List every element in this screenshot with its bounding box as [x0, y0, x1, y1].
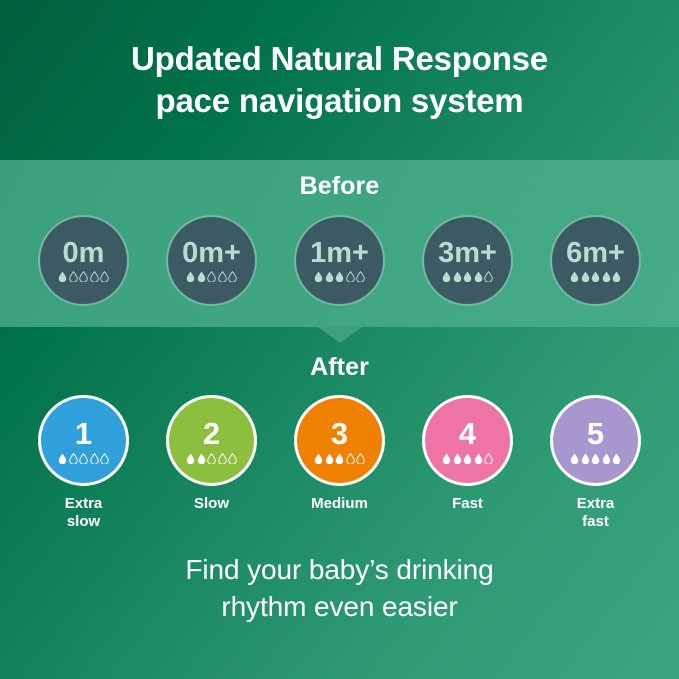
- before-age-badge: 0m+: [166, 215, 257, 306]
- droplet-filled-icon: [58, 453, 67, 464]
- droplet-filled-icon: [463, 271, 472, 282]
- after-pace-badge: 3: [294, 395, 385, 486]
- droplet-meter: [58, 271, 109, 282]
- droplet-meter: [442, 453, 493, 464]
- after-pace-number: 2: [203, 418, 220, 449]
- droplet-filled-icon: [314, 453, 323, 464]
- page-title: Updated Natural Response pace navigation…: [71, 38, 608, 122]
- droplet-filled-icon: [325, 271, 334, 282]
- droplet-filled-icon: [612, 271, 621, 282]
- before-age-label: 3m+: [438, 239, 497, 268]
- droplet-filled-icon: [463, 453, 472, 464]
- before-item: 0m+: [152, 215, 271, 306]
- before-age-badge: 6m+: [550, 215, 641, 306]
- after-item: 4Fast: [408, 395, 527, 513]
- droplet-meter: [186, 453, 237, 464]
- droplet-empty-icon: [228, 453, 237, 464]
- droplet-empty-icon: [207, 453, 216, 464]
- before-row: 0m0m+1m+3m+6m+: [0, 215, 679, 306]
- droplet-empty-icon: [90, 271, 99, 282]
- after-pace-badge: 1: [38, 395, 129, 486]
- droplet-filled-icon: [591, 271, 600, 282]
- droplet-empty-icon: [228, 271, 237, 282]
- droplet-empty-icon: [69, 453, 78, 464]
- header: Updated Natural Response pace navigation…: [0, 0, 679, 160]
- before-age-label: 6m+: [566, 239, 625, 268]
- droplet-filled-icon: [612, 453, 621, 464]
- before-item: 6m+: [536, 215, 655, 306]
- droplet-filled-icon: [325, 453, 334, 464]
- droplet-filled-icon: [442, 453, 451, 464]
- before-age-badge: 1m+: [294, 215, 385, 306]
- after-item: 3Medium: [280, 395, 399, 513]
- after-pace-caption: Medium: [311, 495, 368, 513]
- droplet-filled-icon: [442, 271, 451, 282]
- droplet-empty-icon: [346, 271, 355, 282]
- after-item: 1Extra slow: [24, 395, 143, 531]
- droplet-filled-icon: [335, 453, 344, 464]
- droplet-filled-icon: [591, 453, 600, 464]
- droplet-empty-icon: [69, 271, 78, 282]
- before-age-label: 0m+: [182, 239, 241, 268]
- after-pace-badge: 5: [550, 395, 641, 486]
- after-item: 2Slow: [152, 395, 271, 513]
- droplet-filled-icon: [197, 453, 206, 464]
- footer-text: Find your baby’s drinking rhythm even ea…: [0, 552, 679, 626]
- droplet-filled-icon: [474, 453, 483, 464]
- droplet-meter: [314, 271, 365, 282]
- droplet-filled-icon: [186, 453, 195, 464]
- droplet-filled-icon: [602, 271, 611, 282]
- after-row: 1Extra slow2Slow3Medium4Fast5Extra fast: [0, 395, 679, 531]
- chevron-down-icon: [318, 327, 362, 343]
- droplet-filled-icon: [197, 271, 206, 282]
- droplet-filled-icon: [335, 271, 344, 282]
- droplet-filled-icon: [581, 271, 590, 282]
- poster-root: Updated Natural Response pace navigation…: [0, 0, 679, 679]
- droplet-filled-icon: [453, 271, 462, 282]
- droplet-filled-icon: [186, 271, 195, 282]
- droplet-meter: [570, 271, 621, 282]
- droplet-empty-icon: [79, 453, 88, 464]
- droplet-empty-icon: [79, 271, 88, 282]
- before-age-badge: 3m+: [422, 215, 513, 306]
- after-pace-badge: 2: [166, 395, 257, 486]
- before-item: 0m: [24, 215, 143, 306]
- before-heading: Before: [0, 172, 679, 201]
- droplet-empty-icon: [484, 271, 493, 282]
- after-pace-caption: Fast: [452, 495, 483, 513]
- after-pace-caption: Extra slow: [65, 495, 103, 531]
- droplet-filled-icon: [58, 271, 67, 282]
- after-pace-number: 1: [75, 418, 92, 449]
- droplet-empty-icon: [90, 453, 99, 464]
- droplet-filled-icon: [581, 453, 590, 464]
- droplet-empty-icon: [100, 453, 109, 464]
- droplet-empty-icon: [100, 271, 109, 282]
- droplet-meter: [442, 271, 493, 282]
- before-item: 1m+: [280, 215, 399, 306]
- droplet-empty-icon: [484, 453, 493, 464]
- droplet-empty-icon: [218, 271, 227, 282]
- after-pace-number: 5: [587, 418, 604, 449]
- droplet-meter: [570, 453, 621, 464]
- after-pace-badge: 4: [422, 395, 513, 486]
- after-heading: After: [0, 353, 679, 382]
- before-age-label: 0m: [63, 239, 105, 268]
- droplet-meter: [314, 453, 365, 464]
- droplet-empty-icon: [207, 271, 216, 282]
- droplet-filled-icon: [570, 271, 579, 282]
- after-pace-number: 3: [331, 418, 348, 449]
- before-age-label: 1m+: [310, 239, 369, 268]
- droplet-meter: [186, 271, 237, 282]
- after-pace-caption: Slow: [194, 495, 229, 513]
- after-pace-number: 4: [459, 418, 476, 449]
- droplet-filled-icon: [474, 271, 483, 282]
- droplet-meter: [58, 453, 109, 464]
- before-age-badge: 0m: [38, 215, 129, 306]
- droplet-empty-icon: [356, 453, 365, 464]
- droplet-empty-icon: [346, 453, 355, 464]
- after-pace-caption: Extra fast: [577, 495, 615, 531]
- droplet-filled-icon: [570, 453, 579, 464]
- droplet-filled-icon: [453, 453, 462, 464]
- droplet-filled-icon: [314, 271, 323, 282]
- droplet-empty-icon: [218, 453, 227, 464]
- droplet-filled-icon: [602, 453, 611, 464]
- after-item: 5Extra fast: [536, 395, 655, 531]
- droplet-empty-icon: [356, 271, 365, 282]
- before-item: 3m+: [408, 215, 527, 306]
